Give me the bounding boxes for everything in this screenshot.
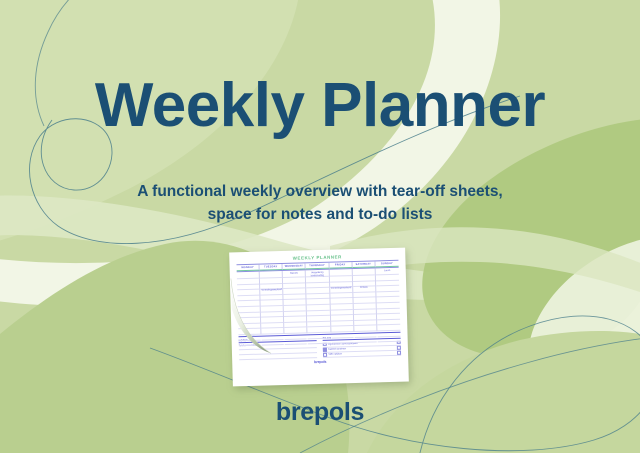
planner-day-column: Lunch (376, 268, 401, 332)
page-subtitle: A functional weekly overview with tear-o… (0, 180, 640, 227)
planner-day-header: WEDNESDAY (283, 263, 306, 270)
planner-mockup: WEEKLY PLANNER MONDAY TUESDAY WEDNESDAY … (229, 248, 409, 387)
planner-entry: Lunch (377, 270, 398, 274)
planner-entry: Vergadering boekhouding (307, 272, 327, 279)
planner-todo-item: Stiftt nakijken (323, 351, 401, 358)
planner-day-column: Vormelingsweekend (329, 269, 354, 333)
planner-day-header: TUESDAY (260, 264, 283, 271)
planner-day-header: SUNDAY (375, 261, 398, 268)
planner-entry: Fitness (354, 287, 374, 291)
planner-entry: Vormelingsweekend (261, 289, 281, 293)
page-subtitle-line-1: A functional weekly overview with tear-o… (0, 180, 640, 203)
planner-note-line (239, 353, 317, 360)
planner-entry: Vormelingsweekend (331, 287, 351, 291)
page-subtitle-line-2: space for notes and to-do lists (0, 203, 640, 226)
poster-canvas: Weekly Planner A functional weekly overv… (0, 0, 640, 453)
planner-day-header: MONDAY (237, 265, 260, 272)
planner-day-column: Fitness (352, 269, 377, 333)
planner-day-column (237, 272, 262, 336)
planner-todo-text: Stiftt nakijken (328, 352, 395, 356)
planner-day-header: THURSDAY (306, 263, 329, 270)
planner-day-header: FRIDAY (329, 262, 352, 269)
planner-day-columns: Vormelingsweekend Bezoek (237, 267, 401, 335)
page-title: Weekly Planner (0, 73, 640, 138)
planner-day-column: Vormelingsweekend (260, 271, 285, 335)
checkbox-icon (323, 353, 327, 357)
checkbox-checked-icon (323, 348, 327, 352)
brand-logo: brepols (0, 398, 640, 427)
checkbox-icon (397, 346, 401, 350)
planner-content: WEEKLY PLANNER MONDAY TUESDAY WEDNESDAY … (236, 253, 401, 381)
planner-sheet: WEEKLY PLANNER MONDAY TUESDAY WEDNESDAY … (229, 248, 409, 387)
planner-day-column: Bezoek (283, 271, 308, 335)
planner-todo-text: Kasteel opruimen (328, 347, 395, 351)
planner-entry: Bezoek (284, 273, 304, 277)
planner-day-header: SATURDAY (352, 261, 375, 268)
planner-day-column: Vergadering boekhouding (306, 270, 331, 334)
checkbox-icon (397, 351, 401, 355)
